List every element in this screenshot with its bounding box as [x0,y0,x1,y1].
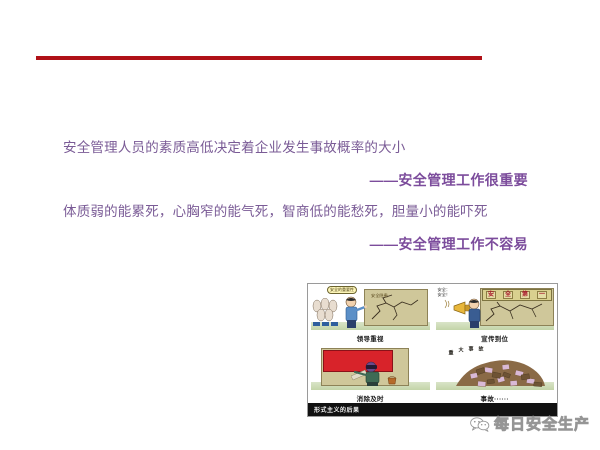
safety-cartoon-figure: 安全隐患 [307,283,558,417]
banner-char-4: 一 [537,291,547,299]
cartoon-panel-accident: 重 大 事 故 事故······ [433,344,558,404]
panel-1-wall-label: 安全隐患 [371,293,388,298]
panel-2-caption: 宣传到位 [433,333,558,343]
slide-line-3: 体质弱的能累死，心胸窄的能气死，智商低的能愁死，胆量小的能吓死 [0,196,600,228]
sound-lines-icon [444,298,454,310]
slide-line-1: 安全管理人员的素质高低决定着企业发生事故概率的大小 [0,132,600,164]
leader-figure-icon [341,296,367,328]
paint-bucket-icon [387,376,397,385]
cartoon-panel-publicity: 安 全 第 一 [433,284,558,344]
slide-text-block: 安全管理人员的素质高低决定着企业发生事故概率的大小 ——安全管理工作很重要 体质… [0,132,600,260]
megaphone-figure-icon [452,296,484,328]
panel-1-caption: 领导重视 [308,333,433,343]
panel-4-scene: 重 大 事 故 [436,346,555,390]
cartoon-panel-leadership: 安全隐患 [308,284,433,344]
panel-1-scene: 安全隐患 [311,286,430,330]
painter-figure-icon [351,360,385,386]
figure-bottom-strip: 形式主义的后果 [308,403,557,416]
accent-rule [36,56,482,60]
wechat-icon [470,416,490,432]
slide-line-4: ——安全管理工作不容易 [0,228,600,260]
panel-4-vertical-text-3: 事 [468,346,475,352]
banner-char-3: 第 [520,291,530,299]
banner-char-1: 安 [486,291,496,299]
slide-line-2: ——安全管理工作很重要 [0,164,600,196]
cartoon-panel-grid: 安全隐患 [308,284,557,404]
banner-char-2: 全 [503,291,513,299]
panel-2-speech-text: 安全：安全！ [438,287,451,298]
panel-1-speech-bubble: 安全的重要性 [327,286,357,294]
panel-3-caption: 消除及时 [308,393,433,403]
cartoon-panel-removal: 消除及时 [308,344,433,404]
figure-strip-caption: 形式主义的后果 [308,405,360,414]
watermark-text: 每日安全生产 [494,417,590,432]
wall-crack-icon-2 [480,299,552,324]
panel-4-vertical-text: 重 [448,350,455,356]
wechat-watermark: 每日安全生产 [470,416,590,432]
rubble-pile-icon [452,354,548,388]
panel-3-scene [311,346,430,390]
panel-4-vertical-text-2: 大 [458,347,465,353]
crowd-icon [312,298,344,326]
panel-2-scene: 安 全 第 一 [436,286,555,330]
panel-4-vertical-text-4: 故 [478,346,485,352]
panel-4-caption: 事故······ [433,393,558,403]
